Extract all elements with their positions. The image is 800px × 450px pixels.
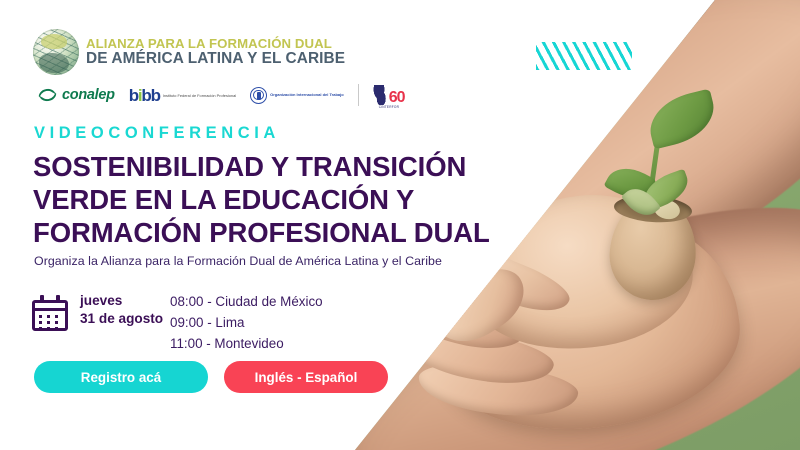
conalep-wordmark: conalep <box>62 87 115 103</box>
partner-logo-conalep: conalep <box>38 87 115 103</box>
headline-line-2: VERDE EN LA EDUCACIÓN Y <box>33 183 503 216</box>
oit-seal-icon <box>250 87 267 104</box>
bibb-wordmark: bibb <box>129 87 160 104</box>
calendar-header-bar <box>35 308 65 311</box>
calendar-icon <box>32 295 68 331</box>
partner-divider <box>358 84 359 106</box>
globe-network-icon <box>33 29 79 75</box>
partner-logo-bibb: bibb Instituto Federal de Formación Prof… <box>129 87 236 104</box>
page-title: SOSTENIBILIDAD Y TRANSICIÓN VERDE EN LA … <box>33 150 503 249</box>
cinterfor-subtitle: CINTERFOR <box>379 105 399 109</box>
logo-line-2: DE AMÉRICA LATINA Y EL CARIBE <box>86 51 345 67</box>
languages-button[interactable]: Inglés - Español <box>224 361 388 393</box>
register-button[interactable]: Registro acá <box>34 361 208 393</box>
diagonal-hatch-decoration <box>536 42 632 70</box>
logo-wordmark: ALIANZA PARA LA FORMACIÓN DUAL DE AMÉRIC… <box>86 37 345 66</box>
event-weekday: jueves <box>80 292 163 310</box>
event-day-month: 31 de agosto <box>80 310 163 328</box>
event-poster: ALIANZA PARA LA FORMACIÓN DUAL DE AMÉRIC… <box>0 0 800 450</box>
organizer-line: Organiza la Alianza para la Formación Du… <box>34 254 442 268</box>
content-column: ALIANZA PARA LA FORMACIÓN DUAL DE AMÉRIC… <box>0 0 520 450</box>
bibb-subtitle: Instituto Federal de Formación Profesion… <box>163 93 236 98</box>
partner-logo-oit: Organización Internacional del Trabajo <box>250 87 344 104</box>
americas-map-icon <box>373 85 388 105</box>
cta-row: Registro acá Inglés - Español <box>34 361 388 393</box>
timezone-item: 09:00 - Lima <box>170 313 323 334</box>
headline-line-1: SOSTENIBILIDAD Y TRANSICIÓN <box>33 150 503 183</box>
event-date-text: jueves 31 de agosto <box>80 292 163 329</box>
event-date-block: jueves 31 de agosto <box>32 292 163 331</box>
logo-line-1: ALIANZA PARA LA FORMACIÓN DUAL <box>86 37 345 51</box>
partner-logo-cinterfor: 60 CINTERFOR <box>373 85 405 105</box>
cinterfor-anniversary-number: 60 <box>389 91 405 105</box>
timezone-list: 08:00 - Ciudad de México 09:00 - Lima 11… <box>170 292 323 354</box>
timezone-item: 08:00 - Ciudad de México <box>170 292 323 313</box>
headline-line-3: FORMACIÓN PROFESIONAL DUAL <box>33 216 503 249</box>
partner-logo-row: conalep bibb Instituto Federal de Formac… <box>38 82 404 108</box>
timezone-item: 11:00 - Montevideo <box>170 334 323 355</box>
globe-highlight <box>41 34 67 49</box>
oit-subtitle: Organización Internacional del Trabajo <box>270 92 344 97</box>
calendar-dots <box>39 315 58 330</box>
conalep-swoosh-icon <box>38 88 58 102</box>
eyebrow-label: VIDEOCONFERENCIA <box>34 124 280 143</box>
alliance-logo: ALIANZA PARA LA FORMACIÓN DUAL DE AMÉRIC… <box>33 29 345 75</box>
